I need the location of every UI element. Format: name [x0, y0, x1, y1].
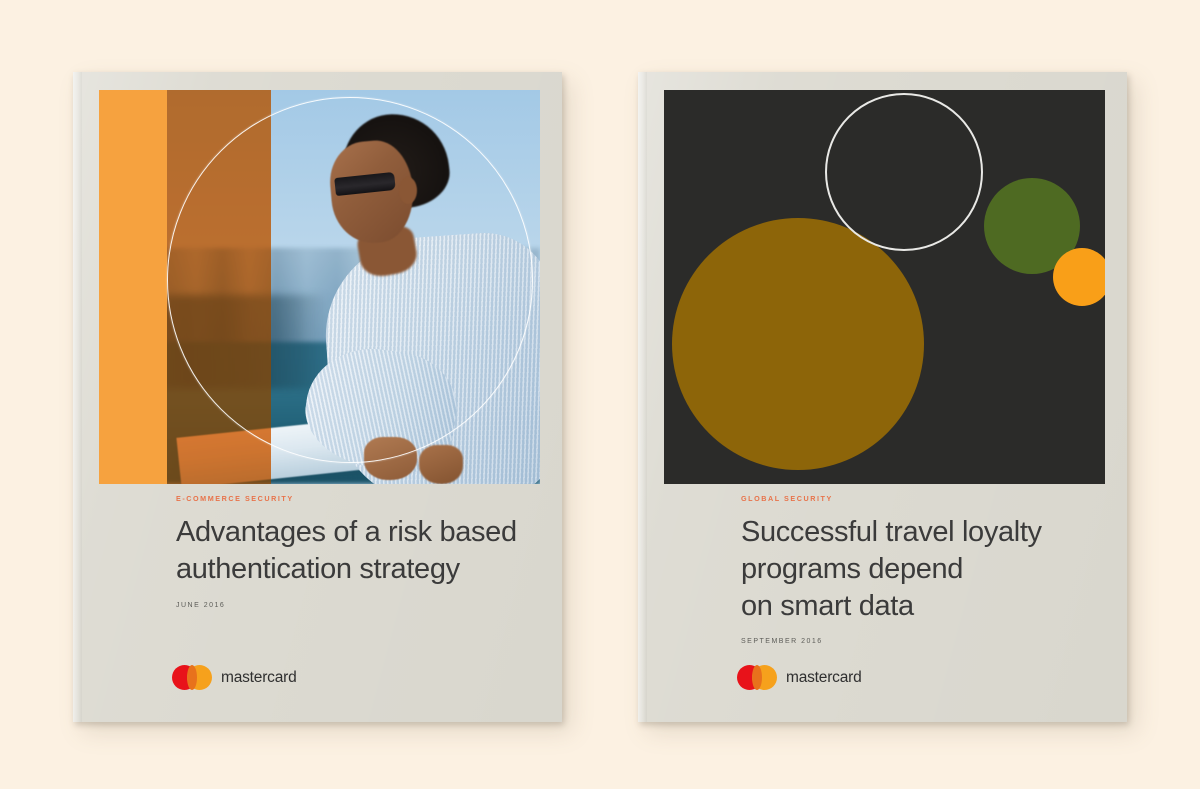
cover-date: SEPTEMBER 2016 [741, 638, 1101, 645]
cover-eyebrow: E-COMMERCE SECURITY [176, 494, 536, 503]
spine-left [73, 72, 82, 722]
cover-eyebrow: GLOBAL SECURITY [741, 494, 1101, 503]
person-hand [419, 445, 463, 484]
scene: E-COMMERCE SECURITY Advantages of a risk… [0, 0, 1200, 789]
mastercard-wordmark: mastercard [786, 669, 862, 687]
mastercard-wordmark: mastercard [221, 669, 297, 687]
mastercard-circles-icon [172, 665, 212, 690]
mastercard-logo: mastercard [737, 665, 862, 690]
cover-text-left: E-COMMERCE SECURITY Advantages of a risk… [176, 494, 536, 609]
logo-overlap [187, 665, 197, 690]
orange-circle-shape [1053, 248, 1105, 306]
report-cover-left[interactable]: E-COMMERCE SECURITY Advantages of a risk… [73, 72, 562, 722]
cover-artwork-left [99, 90, 540, 484]
geometric-artwork [664, 90, 1105, 484]
circle-outline-icon [167, 97, 533, 463]
mastercard-circles-icon [737, 665, 777, 690]
cover-artwork-right [664, 90, 1105, 484]
cover-date: JUNE 2016 [176, 602, 536, 609]
mastercard-logo: mastercard [172, 665, 297, 690]
report-cover-right[interactable]: GLOBAL SECURITY Successful travel loyalt… [638, 72, 1127, 722]
logo-overlap [752, 665, 762, 690]
cover-text-right: GLOBAL SECURITY Successful travel loyalt… [741, 494, 1101, 645]
spine-right [638, 72, 647, 722]
orange-band-solid [99, 90, 167, 484]
page-title: Successful travel loyalty programs depen… [741, 514, 1101, 624]
olive-circle-shape [672, 218, 924, 470]
circle-outline-icon [825, 93, 983, 251]
page-title: Advantages of a risk based authenticatio… [176, 514, 536, 588]
